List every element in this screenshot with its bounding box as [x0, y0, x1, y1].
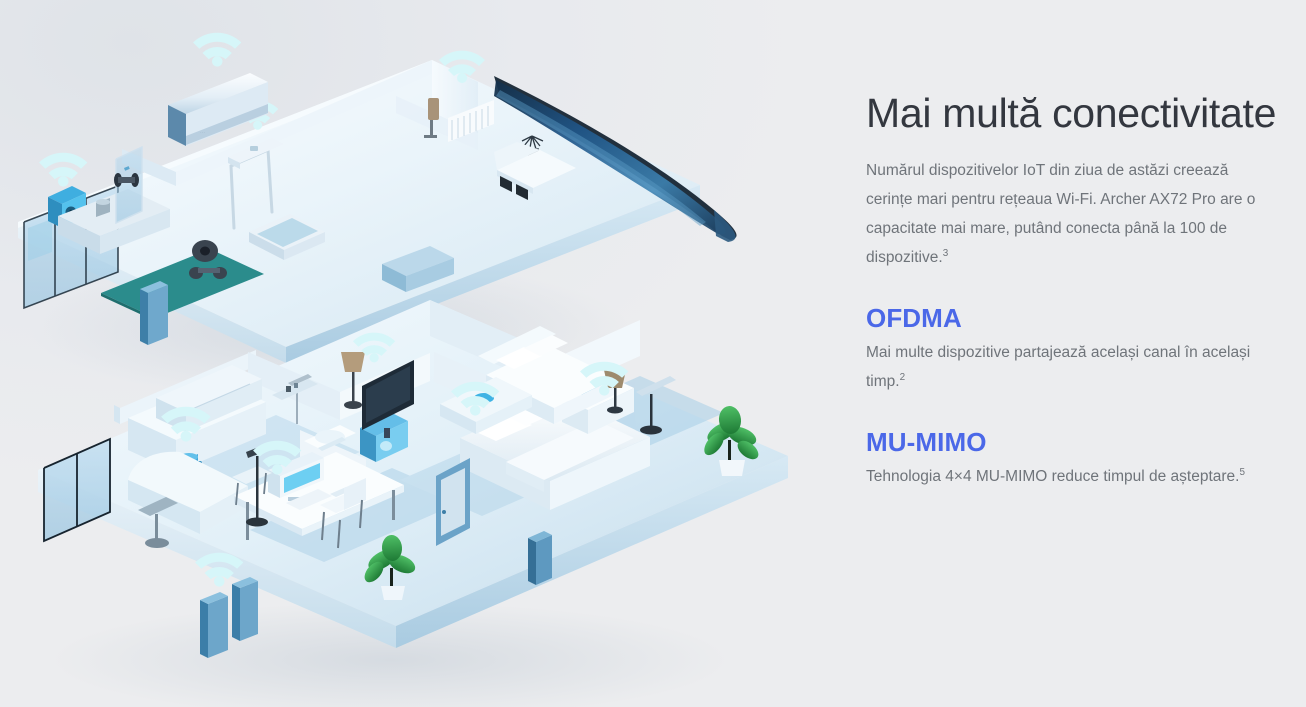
feature-mu-mimo-footnote-marker: 5 — [1239, 467, 1245, 478]
blue-pillar-upper — [140, 281, 168, 345]
feature-ofdma-text: Mai multe dispozitive partajează același… — [866, 344, 1250, 390]
lead-footnote-marker: 3 — [943, 248, 949, 259]
svg-text:···: ··· — [200, 130, 205, 136]
lead-paragraph: Numărul dispozitivelor IoT din ziua de a… — [866, 156, 1272, 272]
feature-ofdma: OFDMA Mai multe dispozitive partajează a… — [866, 302, 1286, 396]
wifi-ac-top — [193, 33, 241, 67]
page-title: Mai multă conectivitate — [866, 88, 1286, 138]
feature-ofdma-footnote-marker: 2 — [900, 372, 906, 383]
marketing-feature-section: ··· Mai multă conectivitate Numărul disp… — [0, 0, 1306, 707]
isometric-house-render: ··· — [0, 0, 840, 707]
feature-ofdma-title: OFDMA — [866, 302, 1286, 334]
feature-text-column: Mai multă conectivitate Numărul dispozit… — [866, 88, 1286, 491]
lower-glass-doors — [44, 439, 110, 541]
wifi-gym-camera — [39, 153, 87, 187]
feature-mu-mimo-description: Tehnologia 4×4 MU-MIMO reduce timpul de … — [866, 462, 1272, 491]
feature-mu-mimo: MU-MIMO Tehnologia 4×4 MU-MIMO reduce ti… — [866, 426, 1286, 491]
feature-ofdma-description: Mai multe dispozitive partajează același… — [866, 338, 1272, 396]
smart-home-illustration: ··· — [0, 0, 840, 707]
feature-mu-mimo-title: MU-MIMO — [866, 426, 1286, 458]
lead-text: Numărul dispozitivelor IoT din ziua de a… — [866, 162, 1255, 266]
feature-mu-mimo-text: Tehnologia 4×4 MU-MIMO reduce timpul de … — [866, 468, 1239, 485]
